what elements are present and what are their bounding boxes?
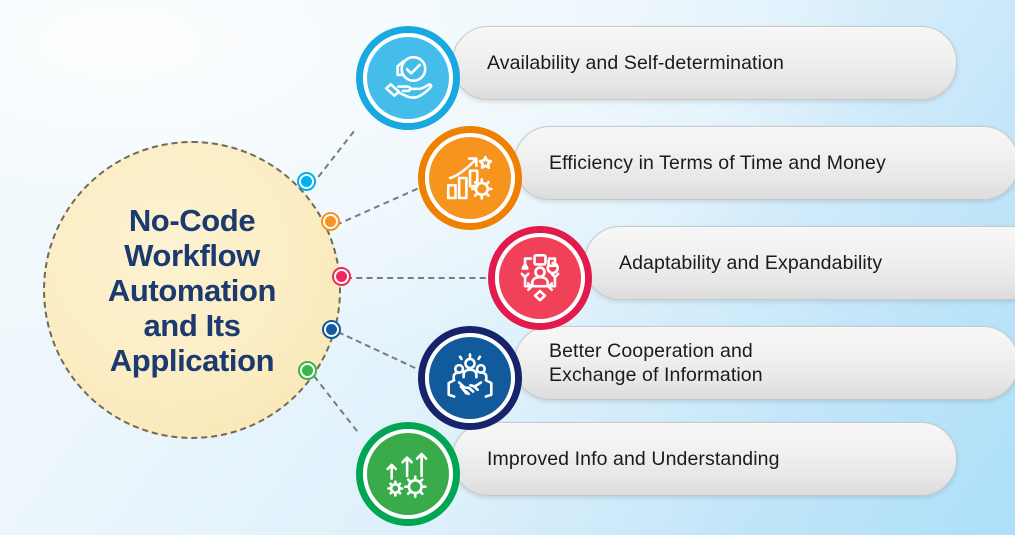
label-pill[interactable]: Improved Info and Understanding	[452, 422, 957, 496]
list-item-label: Improved Info and Understanding	[487, 447, 780, 471]
list-item[interactable]: Adaptability and Expandability	[488, 226, 1015, 300]
connector-line-3	[346, 277, 496, 279]
hand-holding-check-shield-icon	[379, 49, 437, 107]
upward-arrows-gears-icon	[379, 445, 437, 503]
badge-disc	[367, 433, 449, 515]
connector-dot-1	[297, 172, 316, 191]
list-item[interactable]: Improved Info and Understanding	[356, 422, 957, 496]
dot-fill	[302, 365, 313, 376]
list-item[interactable]: Efficiency in Terms of Time and Money	[418, 126, 1015, 200]
infographic-canvas: No-Code Workflow Automation and Its Appl…	[0, 0, 1015, 535]
page-title: No-Code Workflow Automation and Its Appl…	[94, 203, 290, 378]
connector-line-5	[313, 375, 358, 431]
improved-info-icon-badge[interactable]	[356, 422, 460, 526]
list-item-label: Efficiency in Terms of Time and Money	[549, 151, 886, 175]
list-item-label: Availability and Self-determination	[487, 51, 784, 75]
efficiency-icon-badge[interactable]	[418, 126, 522, 230]
cooperation-icon-badge[interactable]	[418, 326, 522, 430]
availability-icon-badge[interactable]	[356, 26, 460, 130]
list-item[interactable]: Better Cooperation and Exchange of Infor…	[418, 326, 1015, 400]
handshake-team-gear-icon	[441, 349, 499, 407]
badge-disc	[499, 237, 581, 319]
list-item-label: Better Cooperation and Exchange of Infor…	[549, 339, 763, 387]
connector-dot-4	[322, 320, 341, 339]
adaptability-icon-badge[interactable]	[488, 226, 592, 330]
label-pill[interactable]: Adaptability and Expandability	[584, 226, 1015, 300]
connector-dot-3	[332, 267, 351, 286]
list-item-label: Adaptability and Expandability	[619, 251, 882, 275]
adaptability-cycle-person-icon	[511, 249, 569, 307]
badge-disc	[367, 37, 449, 119]
badge-disc	[429, 337, 511, 419]
dot-fill	[336, 271, 347, 282]
connector-line-1	[311, 131, 354, 186]
dot-fill	[326, 324, 337, 335]
connector-dot-5	[298, 361, 317, 380]
dot-fill	[325, 216, 336, 227]
hub-circle: No-Code Workflow Automation and Its Appl…	[43, 141, 341, 439]
badge-disc	[429, 137, 511, 219]
label-pill[interactable]: Availability and Self-determination	[452, 26, 957, 100]
growth-chart-gear-star-icon	[441, 149, 499, 207]
dot-fill	[301, 176, 312, 187]
list-item[interactable]: Availability and Self-determination	[356, 26, 957, 100]
label-pill[interactable]: Better Cooperation and Exchange of Infor…	[514, 326, 1015, 400]
connector-dot-2	[321, 212, 340, 231]
label-pill[interactable]: Efficiency in Terms of Time and Money	[514, 126, 1015, 200]
